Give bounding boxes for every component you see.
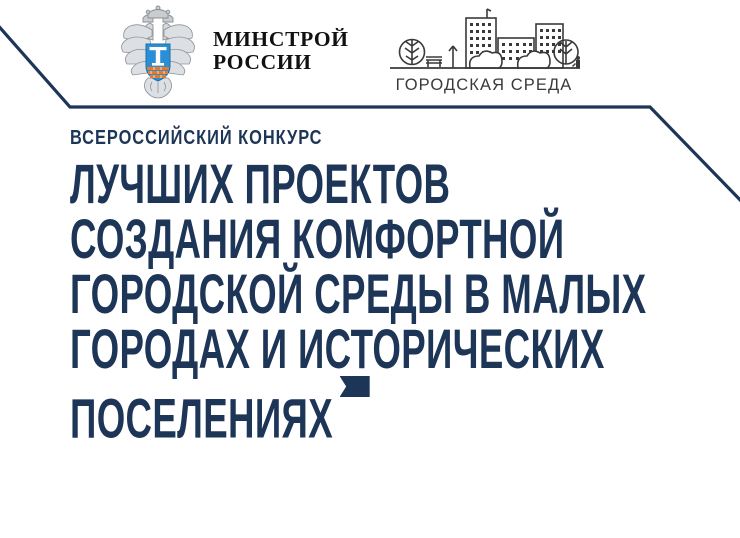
russian-double-headed-eagle-emblem-icon	[112, 4, 204, 102]
headline-line-5: ПОСЕЛЕНИЯХ	[70, 386, 333, 449]
program-logo: ГОРОДСКАЯ СРЕДА	[386, 6, 582, 98]
headline-line-4: ГОРОДАХ И ИСТОРИЧЕСКИХ	[70, 321, 476, 376]
program-logo-caption: ГОРОДСКАЯ СРЕДА	[396, 76, 573, 94]
ministry-name-line2: РОССИИ	[213, 51, 349, 74]
headline-block: ВСЕРОССИЙСКИЙ КОНКУРС ЛУЧШИХ ПРОЕКТОВ СО…	[70, 126, 690, 431]
ministry-name-line1: МИНСТРОЙ	[213, 28, 349, 51]
headline-line-2: СОЗДАНИЯ КОМФОРТНОЙ	[70, 211, 476, 266]
headline-kicker: ВСЕРОССИЙСКИЙ КОНКУРС	[70, 126, 566, 150]
headline-line-5-wrapper: ПОСЕЛЕНИЯХ	[70, 376, 476, 431]
pennant-flag-icon	[340, 376, 370, 397]
headline-line-3: ГОРОДСКОЙ СРЕДЫ В МАЛЫХ	[70, 266, 476, 321]
poster-canvas: МИНСТРОЙ РОССИИ	[0, 0, 740, 538]
urban-environment-skyline-icon: ГОРОДСКАЯ СРЕДА	[386, 6, 582, 98]
ministry-logo: МИНСТРОЙ РОССИИ	[112, 4, 349, 102]
headline-title: ЛУЧШИХ ПРОЕКТОВ СОЗДАНИЯ КОМФОРТНОЙ ГОРО…	[70, 156, 690, 431]
ministry-name: МИНСТРОЙ РОССИИ	[213, 28, 349, 78]
logo-row: МИНСТРОЙ РОССИИ	[0, 0, 740, 108]
headline-line-1: ЛУЧШИХ ПРОЕКТОВ	[70, 156, 476, 211]
